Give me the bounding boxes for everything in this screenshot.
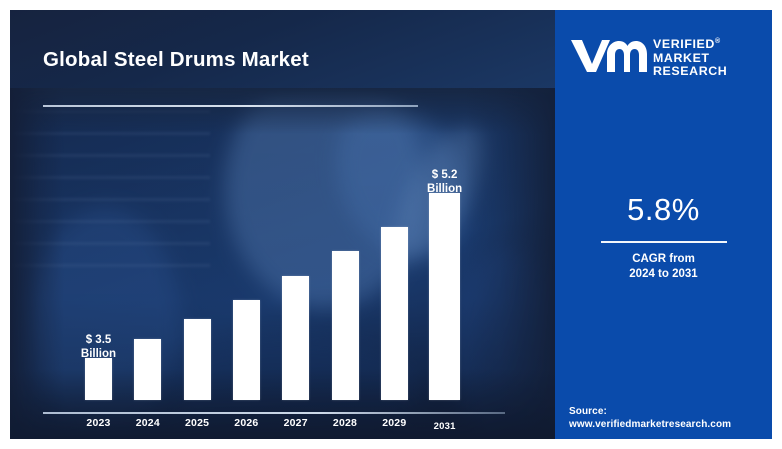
cagr-divider [601,241,727,243]
bar-2027 [282,276,309,401]
x-tick-label-2028: 2028 [320,417,370,429]
x-axis-line [43,412,505,414]
x-tick-label-2029: 2029 [369,417,419,429]
bar-2029 [381,227,408,400]
vmr-logo-mark-icon [569,37,647,75]
brand-logo-text: VERIFIED® MARKET RESEARCH [653,35,727,79]
chart-panel: Global Steel Drums Market 2023$ 3.5 Bill… [10,10,555,439]
x-tick-label-2023: 2023 [74,417,124,429]
x-tick-label-2026: 2026 [221,417,271,429]
bar-2028 [332,251,359,400]
value-label-2023: $ 3.5 Billion [64,334,134,361]
bar-2031 [429,193,460,400]
bar-2025 [184,319,211,400]
bar-2024 [134,339,161,400]
logo-line-verified: VERIFIED [653,37,715,51]
bar-2026 [233,300,260,400]
cagr-value: 5.8% [555,192,772,228]
infographic-card: Global Steel Drums Market 2023$ 3.5 Bill… [10,10,772,439]
x-tick-label-2024: 2024 [123,417,173,429]
value-label-2031: $ 5.2 Billion [410,169,480,196]
x-tick-label-2025: 2025 [172,417,222,429]
source-text: Source: www.verifiedmarketresearch.com [569,405,731,431]
bar-chart-plot: 2023$ 3.5 Billion20242025202620272028202… [10,10,555,439]
side-panel: VERIFIED® MARKET RESEARCH 5.8% CAGR from… [555,10,772,439]
x-tick-label-2027: 2027 [271,417,321,429]
x-tick-label-2031: 2031 [420,421,470,432]
registered-trademark-icon: ® [715,38,720,45]
infographic-root: Global Steel Drums Market 2023$ 3.5 Bill… [0,0,782,449]
bar-2023 [85,358,112,400]
brand-logo: VERIFIED® MARKET RESEARCH [569,33,761,87]
logo-line-market: MARKET [653,52,727,66]
logo-line-research: RESEARCH [653,65,727,79]
cagr-caption: CAGR from 2024 to 2031 [555,252,772,282]
